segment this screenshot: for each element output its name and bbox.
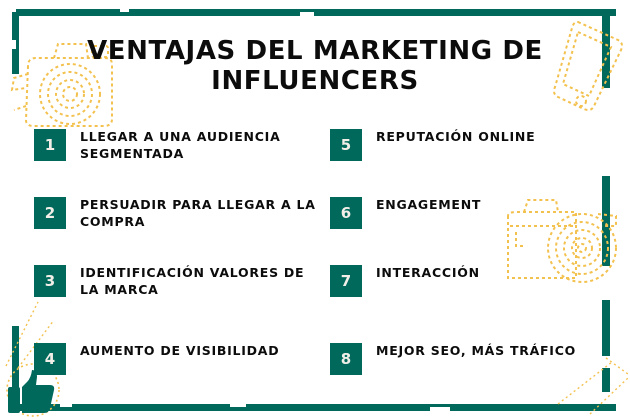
frame-border-bottom (12, 404, 616, 411)
item-label: AUMENTO DE VISIBILIDAD (80, 342, 279, 359)
list-item[interactable]: 2 PERSUADIR PARA LLEGAR A LA COMPRA (34, 196, 324, 231)
list-item[interactable]: 4 AUMENTO DE VISIBILIDAD (34, 342, 279, 375)
item-number-badge: 8 (330, 343, 362, 375)
item-label: PERSUADIR PARA LLEGAR A LA COMPRA (80, 196, 324, 231)
item-label: LLEGAR A UNA AUDIENCIA SEGMENTADA (80, 128, 324, 163)
frame-brush-gap (430, 407, 450, 411)
item-number-badge: 3 (34, 265, 66, 297)
advantages-list: 1 LLEGAR A UNA AUDIENCIA SEGMENTADA 2 PE… (0, 120, 630, 400)
item-label: REPUTACIÓN ONLINE (376, 128, 535, 145)
item-label: ENGAGEMENT (376, 196, 481, 213)
item-number-badge: 6 (330, 197, 362, 229)
frame-brush-gap (300, 12, 314, 16)
list-item[interactable]: 5 REPUTACIÓN ONLINE (330, 128, 535, 161)
frame-brush-gap (60, 404, 72, 407)
item-number-badge: 4 (34, 343, 66, 375)
item-label: MEJOR SEO, MÁS TRÁFICO (376, 342, 576, 359)
item-number-badge: 5 (330, 129, 362, 161)
item-number-badge: 7 (330, 265, 362, 297)
list-item[interactable]: 3 IDENTIFICACIÓN VALORES DE LA MARCA (34, 264, 324, 299)
frame-border-right-upper (602, 14, 610, 88)
list-item[interactable]: 1 LLEGAR A UNA AUDIENCIA SEGMENTADA (34, 128, 324, 163)
page-title: VENTAJAS DEL MARKETING DE INFLUENCERS (50, 36, 580, 96)
list-item[interactable]: 8 MEJOR SEO, MÁS TRÁFICO (330, 342, 576, 375)
item-number-badge: 2 (34, 197, 66, 229)
list-item[interactable]: 7 INTERACCIÓN (330, 264, 480, 297)
item-label: IDENTIFICACIÓN VALORES DE LA MARCA (80, 264, 324, 299)
frame-border-top (16, 9, 616, 16)
frame-brush-gap (12, 40, 16, 49)
infographic-poster: VENTAJAS DEL MARKETING DE INFLUENCERS 1 … (0, 0, 630, 420)
item-label: INTERACCIÓN (376, 264, 480, 281)
list-item[interactable]: 6 ENGAGEMENT (330, 196, 481, 229)
frame-brush-gap (120, 9, 129, 12)
item-number-badge: 1 (34, 129, 66, 161)
frame-brush-gap (230, 404, 246, 407)
